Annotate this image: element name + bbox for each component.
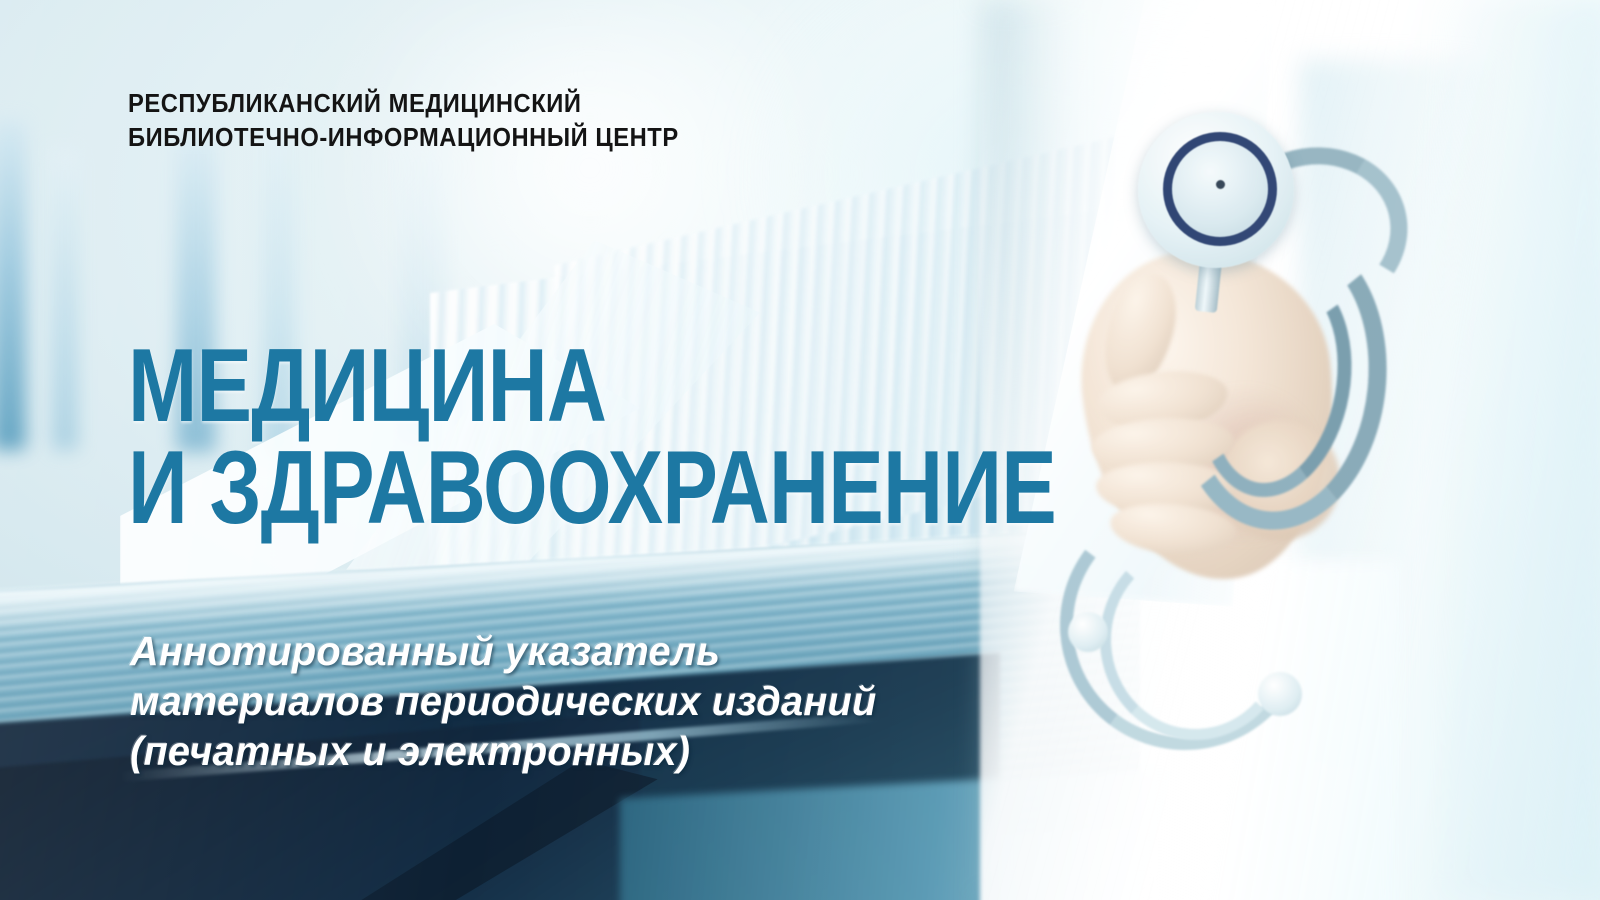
- page-title: МЕДИЦИНА И ЗДРАВООХРАНЕНИЕ: [128, 336, 1056, 540]
- page-subtitle: Аннотированный указатель материалов пери…: [130, 626, 877, 776]
- publication-cover: РЕСПУБЛИКАНСКИЙ МЕДИЦИНСКИЙ БИБЛИОТЕЧНО-…: [0, 0, 1600, 900]
- organization-name: РЕСПУБЛИКАНСКИЙ МЕДИЦИНСКИЙ БИБЛИОТЕЧНО-…: [128, 88, 679, 156]
